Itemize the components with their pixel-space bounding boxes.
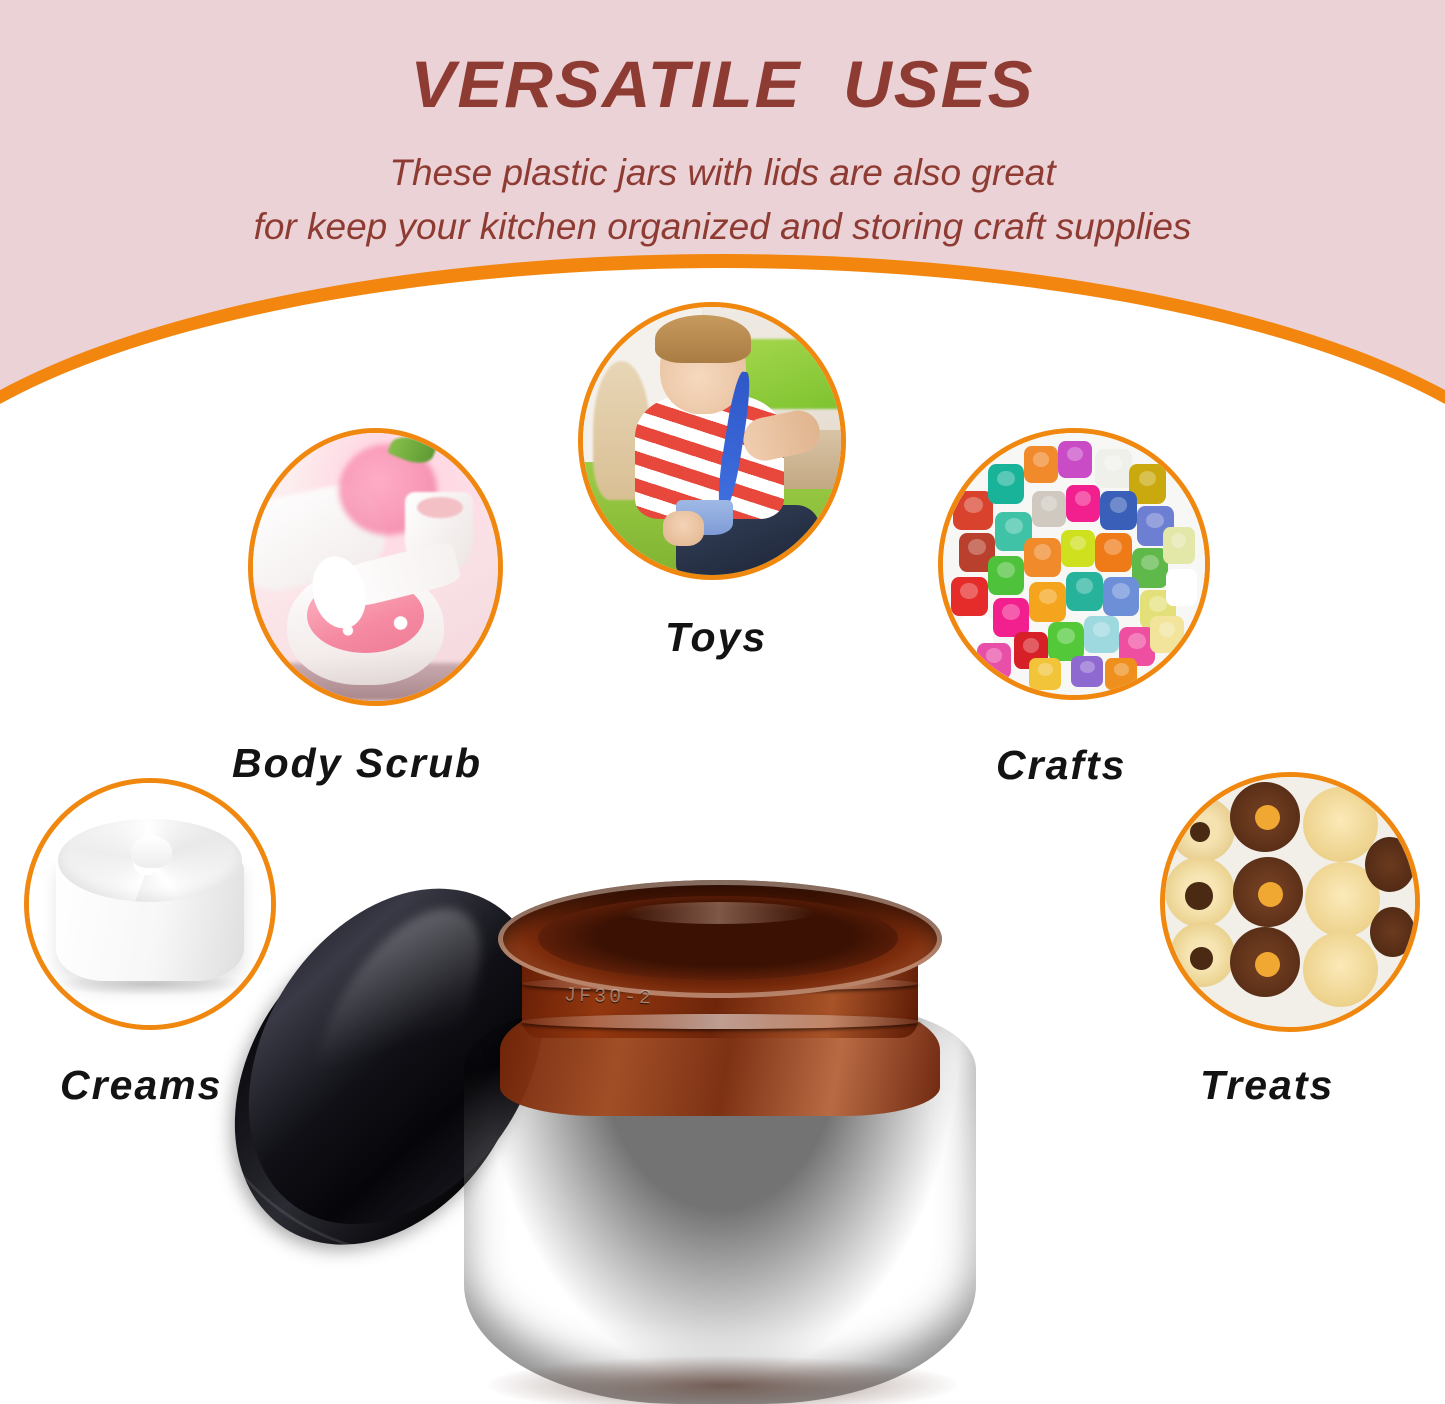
- use-label-body-scrub: Body Scrub: [232, 740, 482, 787]
- use-circle-crafts: [938, 428, 1210, 700]
- use-label-creams: Creams: [60, 1062, 222, 1109]
- page-title: VERSATILE USES: [0, 46, 1445, 122]
- product-image: JF30-2: [248, 862, 1028, 1404]
- amber-jar: JF30-2: [464, 880, 976, 1404]
- subtitle-line-2: for keep your kitchen organized and stor…: [0, 200, 1445, 254]
- body-scrub-photo: [253, 433, 498, 701]
- use-circle-creams: [24, 778, 276, 1030]
- use-circle-treats: [1160, 772, 1420, 1032]
- use-label-crafts: Crafts: [996, 742, 1126, 789]
- page-subtitle: These plastic jars with lids are also gr…: [0, 146, 1445, 254]
- crafts-photo: [943, 433, 1205, 695]
- jar-emboss-text: JF30-2: [564, 984, 655, 1010]
- use-circle-toys: [578, 302, 846, 580]
- subtitle-line-1: These plastic jars with lids are also gr…: [0, 146, 1445, 200]
- treats-photo: [1165, 777, 1415, 1027]
- creams-photo: [29, 783, 271, 1025]
- infographic-page: VERSATILE USES These plastic jars with l…: [0, 0, 1445, 1404]
- toys-photo: [583, 307, 841, 575]
- use-label-treats: Treats: [1200, 1062, 1334, 1109]
- use-label-toys: Toys: [665, 614, 767, 661]
- use-circle-body-scrub: [248, 428, 503, 706]
